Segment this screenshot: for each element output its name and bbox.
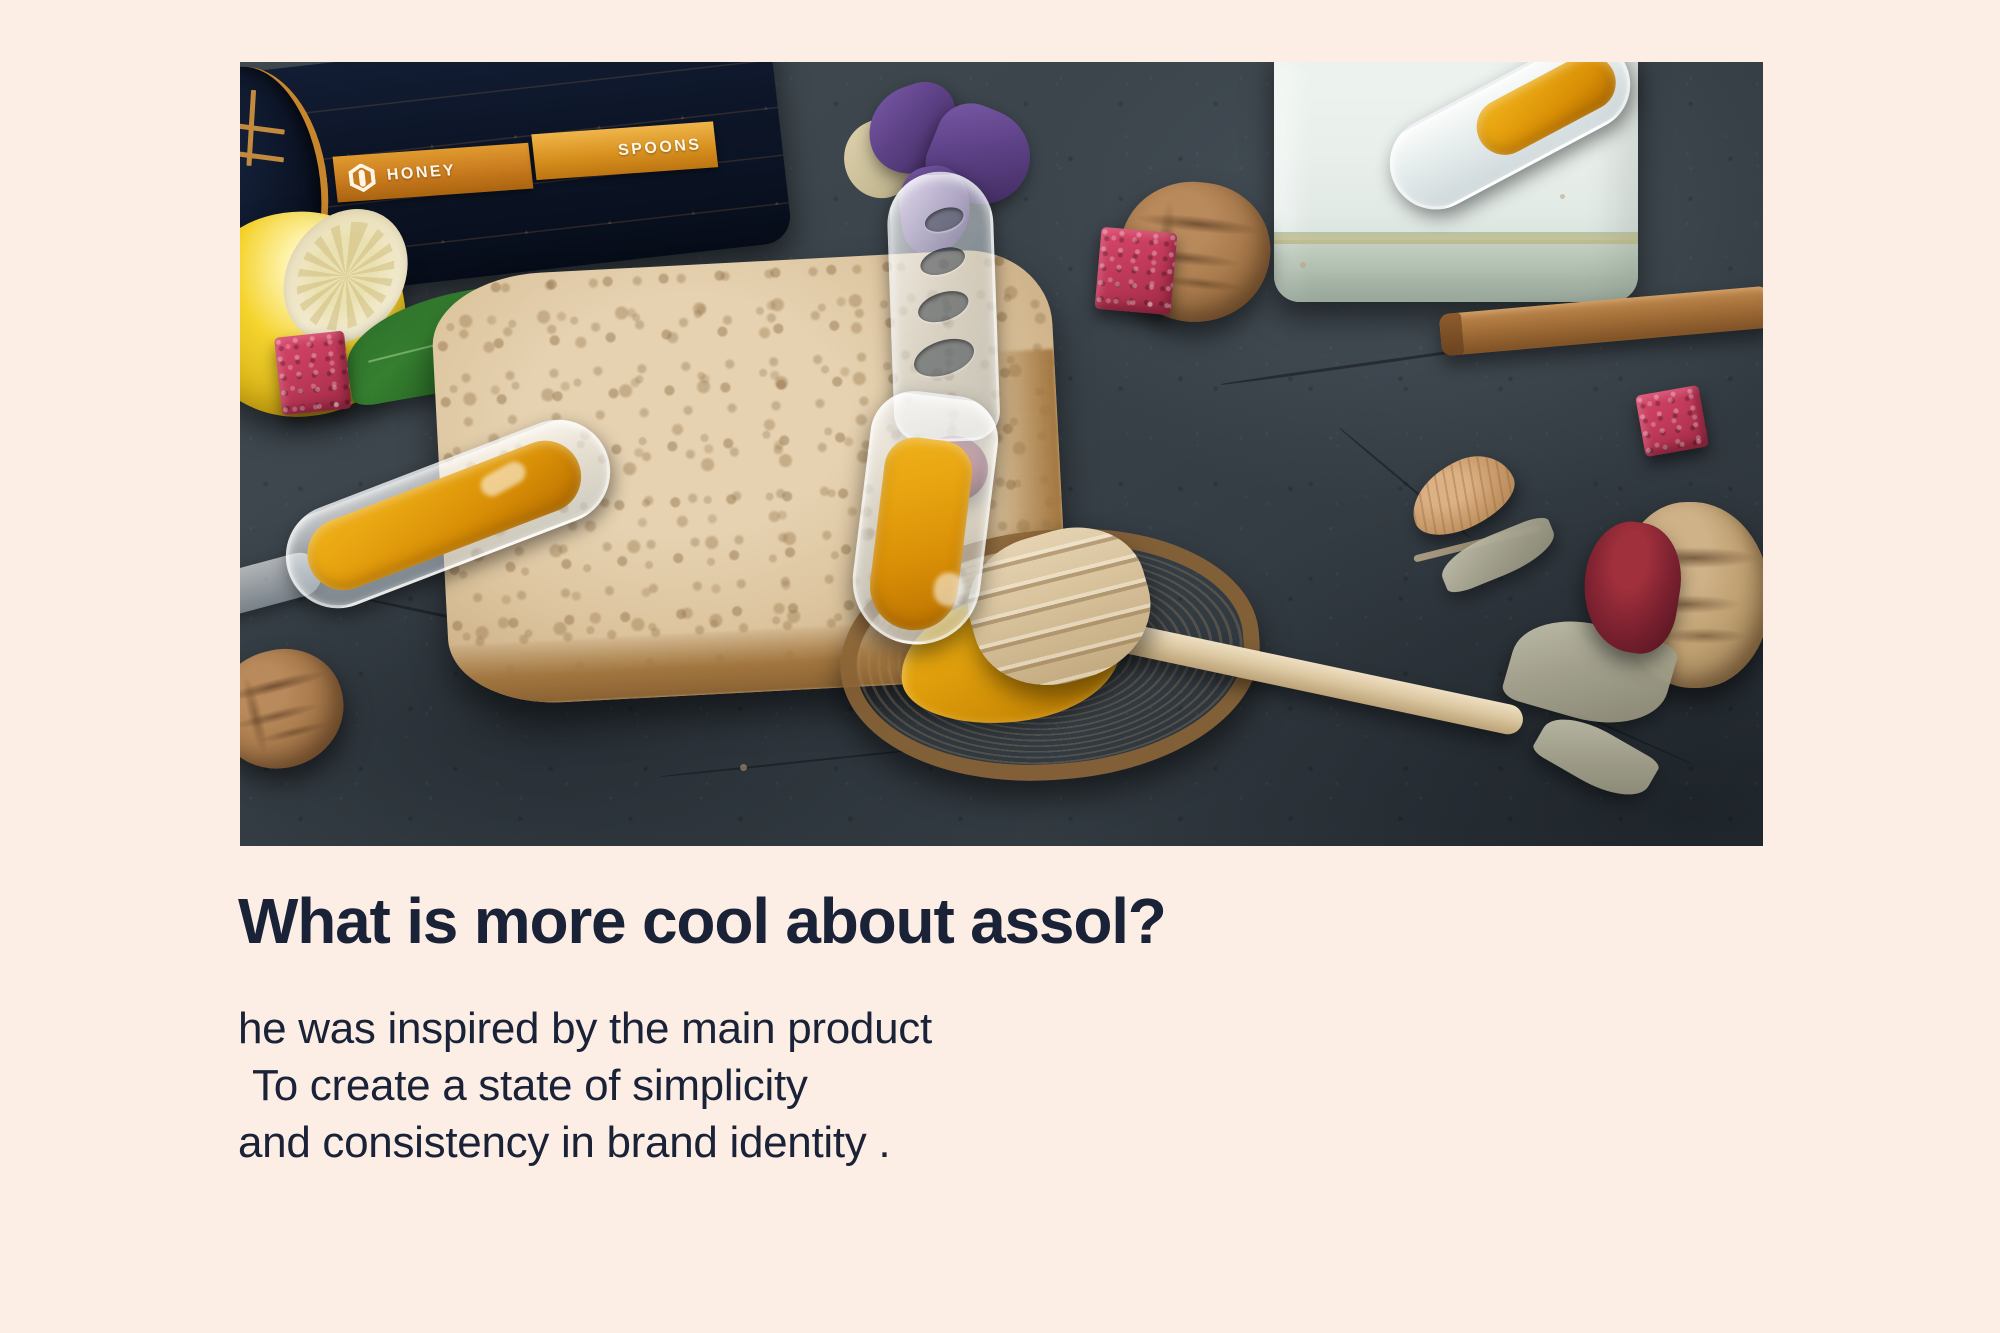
body-copy: he was inspired by the main product To c… — [238, 1000, 1538, 1172]
hero-photo: HONEY SPOONS — [240, 62, 1763, 846]
crumb-speck — [1560, 194, 1565, 199]
packaging-brand-honey: HONEY — [386, 162, 457, 185]
handle-hole — [914, 285, 972, 328]
handle-hole — [909, 332, 978, 383]
crumb-speck — [740, 764, 747, 771]
product-photo: HONEY SPOONS — [240, 62, 1763, 846]
pink-sugar-cube — [274, 331, 352, 416]
handle-hole — [922, 203, 967, 236]
packaging-brand-spoons: SPOONS — [617, 136, 702, 160]
handle-hole — [917, 242, 968, 280]
hexagon-bee-icon — [348, 162, 377, 193]
body-line-1: he was inspired by the main product — [238, 1000, 1538, 1057]
body-line-3: and consistency in brand identity . — [238, 1114, 1538, 1171]
jar-glass-base — [1274, 240, 1638, 302]
packaging-logo-mark — [240, 88, 296, 185]
slide-canvas: HONEY SPOONS — [0, 0, 2000, 1333]
pink-sugar-cube — [1635, 385, 1709, 457]
crumb-speck — [1300, 262, 1306, 268]
pink-sugar-cube — [1095, 227, 1178, 315]
page-title: What is more cool about assol? — [238, 888, 1538, 955]
body-line-2: To create a state of simplicity — [238, 1057, 1538, 1114]
